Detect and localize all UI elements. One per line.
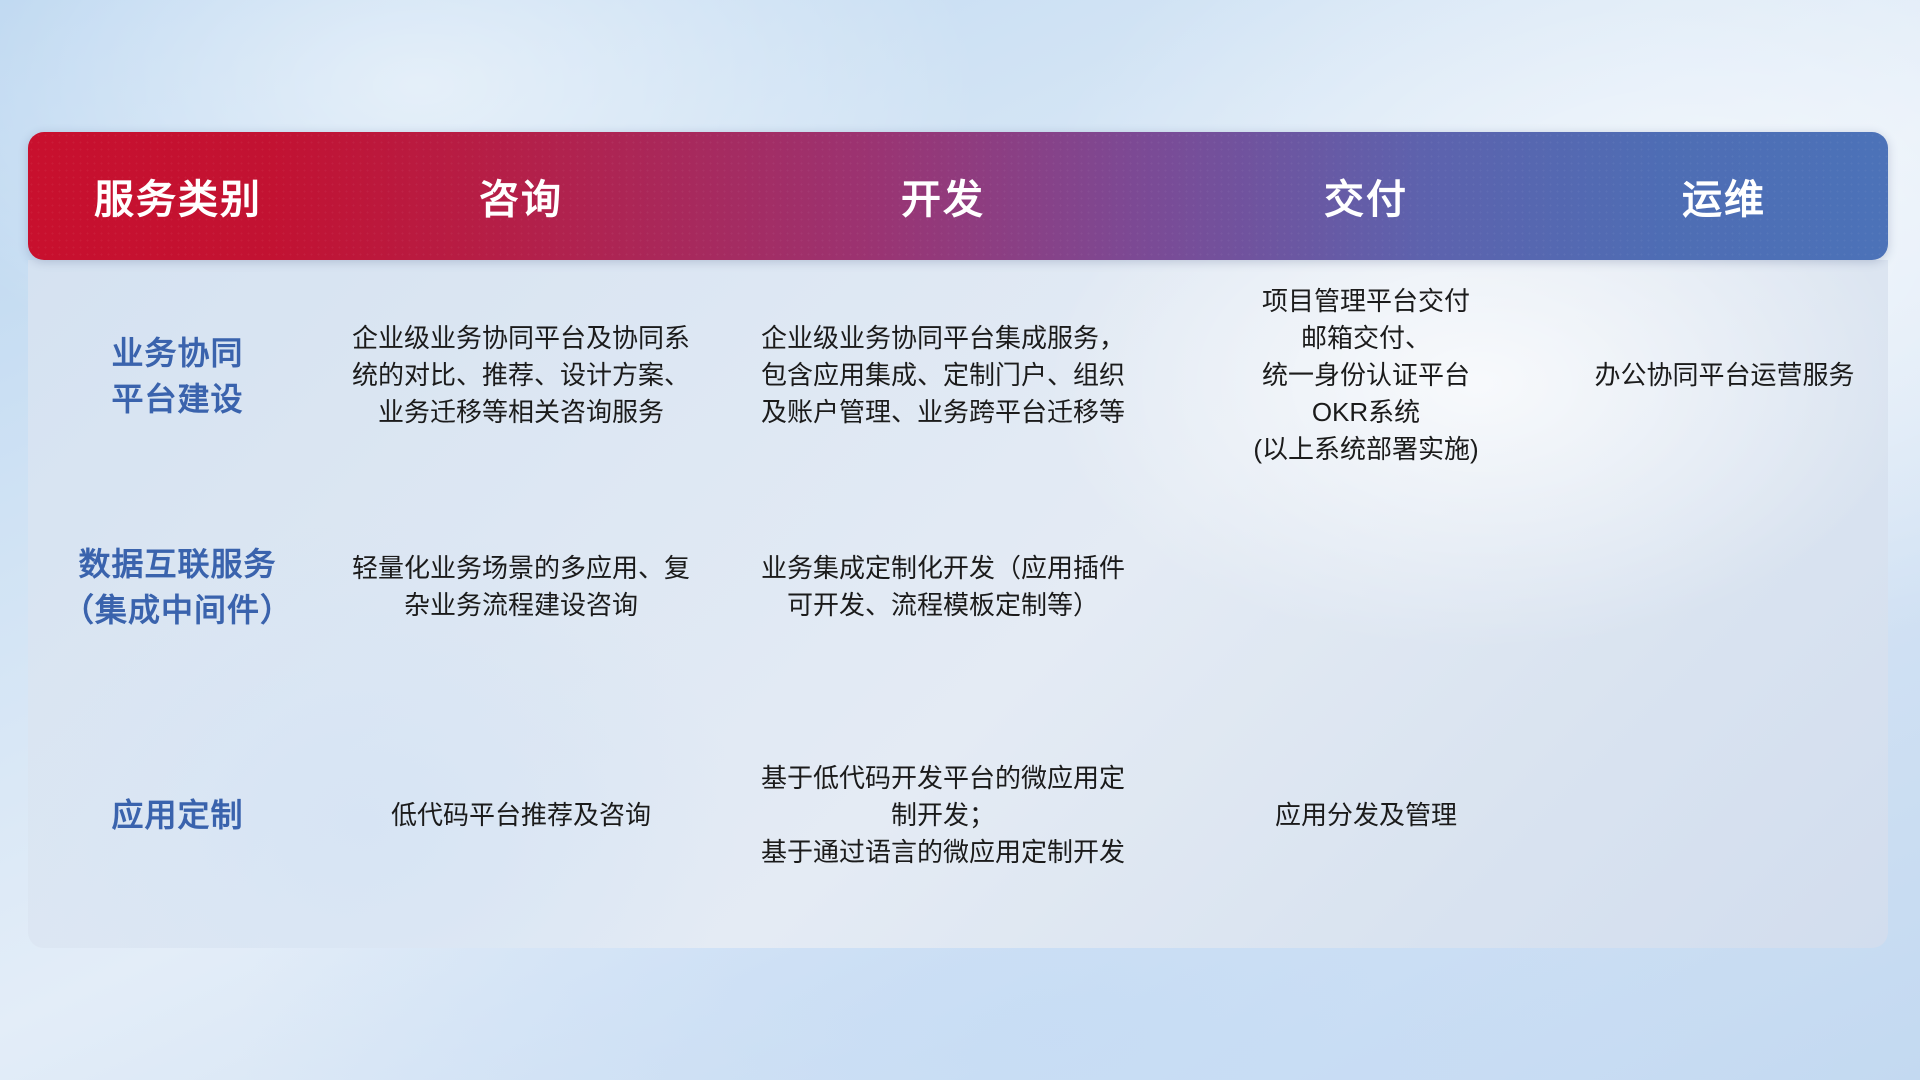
cell-delivery: 项目管理平台交付 邮箱交付、 统一身份认证平台 OKR系统 (以上系统部署实施) bbox=[1172, 260, 1560, 492]
column-header-operations: 运维 bbox=[1560, 132, 1888, 260]
service-matrix-table: 服务类别 咨询 开发 交付 运维 业务协同 平台建设 企业级业务协同平台及协同系… bbox=[28, 132, 1888, 948]
cell-development: 业务集成定制化开发（应用插件 可开发、流程模板定制等） bbox=[714, 492, 1172, 682]
table-row: 业务协同 平台建设 企业级业务协同平台及协同系 统的对比、推荐、设计方案、 业务… bbox=[28, 260, 1888, 492]
cell-text: 低代码平台推荐及咨询 bbox=[347, 797, 695, 834]
column-header-category: 服务类别 bbox=[28, 132, 328, 260]
cell-delivery: 应用分发及管理 bbox=[1172, 682, 1560, 948]
row-category-cell: 数据互联服务 （集成中间件） bbox=[28, 492, 328, 682]
cell-consulting: 轻量化业务场景的多应用、复 杂业务流程建设咨询 bbox=[328, 492, 714, 682]
page-background: 服务类别 咨询 开发 交付 运维 业务协同 平台建设 企业级业务协同平台及协同系… bbox=[0, 0, 1920, 1080]
cell-consulting: 企业级业务协同平台及协同系 统的对比、推荐、设计方案、 业务迁移等相关咨询服务 bbox=[328, 260, 714, 492]
cell-text: 基于低代码开发平台的微应用定 制开发； 基于通过语言的微应用定制开发 bbox=[733, 760, 1153, 871]
cell-operations: 办公协同平台运营服务 bbox=[1560, 260, 1888, 492]
cell-text: 企业级业务协同平台及协同系 统的对比、推荐、设计方案、 业务迁移等相关咨询服务 bbox=[347, 320, 695, 431]
row-category-label: 数据互联服务 （集成中间件） bbox=[46, 541, 309, 634]
cell-delivery bbox=[1172, 492, 1560, 682]
cell-text: 轻量化业务场景的多应用、复 杂业务流程建设咨询 bbox=[347, 550, 695, 624]
cell-text: 项目管理平台交付 邮箱交付、 统一身份认证平台 OKR系统 (以上系统部署实施) bbox=[1191, 283, 1541, 468]
table-body: 业务协同 平台建设 企业级业务协同平台及协同系 统的对比、推荐、设计方案、 业务… bbox=[28, 260, 1888, 948]
cell-development: 基于低代码开发平台的微应用定 制开发； 基于通过语言的微应用定制开发 bbox=[714, 682, 1172, 948]
cell-operations bbox=[1560, 492, 1888, 682]
cell-text: 应用分发及管理 bbox=[1191, 797, 1541, 834]
row-category-label: 业务协同 平台建设 bbox=[46, 330, 309, 423]
row-category-label: 应用定制 bbox=[46, 792, 309, 838]
cell-operations bbox=[1560, 682, 1888, 948]
cell-consulting: 低代码平台推荐及咨询 bbox=[328, 682, 714, 948]
table-row: 应用定制 低代码平台推荐及咨询 基于低代码开发平台的微应用定 制开发； 基于通过… bbox=[28, 682, 1888, 948]
cell-text: 企业级业务协同平台集成服务， 包含应用集成、定制门户、组织 及账户管理、业务跨平… bbox=[733, 320, 1153, 431]
column-header-consulting: 咨询 bbox=[328, 132, 714, 260]
service-matrix-table-wrapper: 服务类别 咨询 开发 交付 运维 业务协同 平台建设 企业级业务协同平台及协同系… bbox=[28, 132, 1888, 948]
row-category-cell: 应用定制 bbox=[28, 682, 328, 948]
table-header-row: 服务类别 咨询 开发 交付 运维 bbox=[28, 132, 1888, 260]
cell-text: 办公协同平台运营服务 bbox=[1579, 357, 1870, 394]
column-header-delivery: 交付 bbox=[1172, 132, 1560, 260]
row-category-cell: 业务协同 平台建设 bbox=[28, 260, 328, 492]
table-head: 服务类别 咨询 开发 交付 运维 bbox=[28, 132, 1888, 260]
cell-development: 企业级业务协同平台集成服务， 包含应用集成、定制门户、组织 及账户管理、业务跨平… bbox=[714, 260, 1172, 492]
cell-text: 业务集成定制化开发（应用插件 可开发、流程模板定制等） bbox=[733, 550, 1153, 624]
table-row: 数据互联服务 （集成中间件） 轻量化业务场景的多应用、复 杂业务流程建设咨询 业… bbox=[28, 492, 1888, 682]
column-header-development: 开发 bbox=[714, 132, 1172, 260]
